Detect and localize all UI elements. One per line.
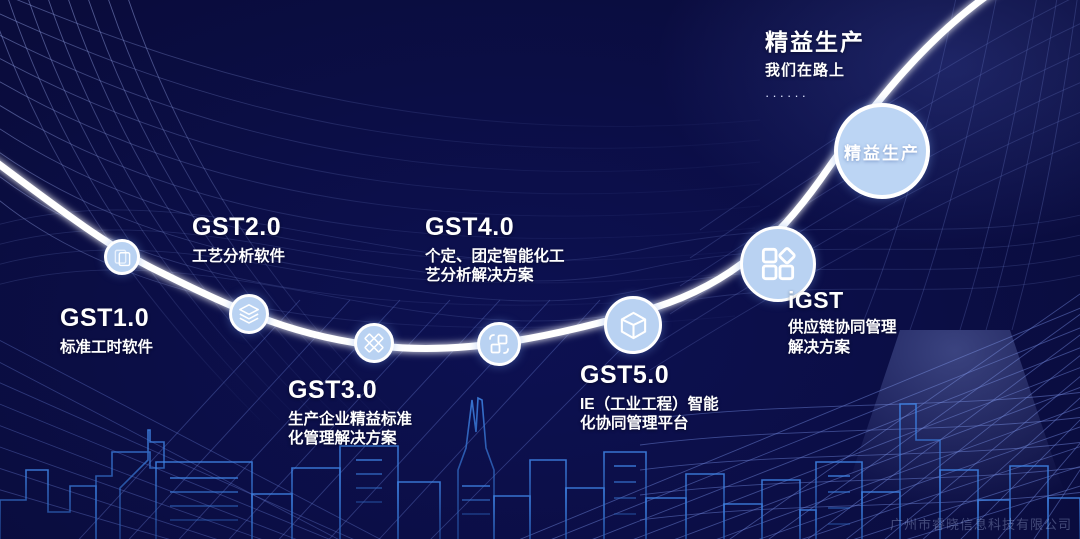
milestone-node-gst3[interactable] [354, 323, 394, 363]
milestone-title-gst1: GST1.0 [60, 305, 153, 333]
documents-icon [113, 248, 132, 267]
milestone-label-igst: iGST 供应链协同管理 解决方案 [788, 288, 897, 357]
milestone-node-hero[interactable]: 精益生产 [834, 103, 930, 199]
milestone-label-gst3: GST3.0 生产企业精益标准 化管理解决方案 [288, 377, 412, 448]
scan-icon [487, 332, 511, 356]
milestone-title-gst2: GST2.0 [192, 214, 285, 242]
milestone-label-gst1: GST1.0 标准工时软件 [60, 305, 153, 357]
milestone-subtitle-gst2: 工艺分析软件 [192, 247, 285, 266]
poster-canvas: 精益生产 GST1.0 标准工时软件 GST2.0 工艺分析软件 GST3.0 … [0, 0, 1080, 539]
hero-subtitle: 我们在路上 [765, 62, 865, 81]
milestone-subtitle-igst-line1: 供应链协同管理 [788, 318, 897, 337]
milestone-title-igst: iGST [788, 288, 897, 313]
hero-text-block: 精益生产 我们在路上 ······ [765, 30, 865, 103]
milestone-node-gst5[interactable] [604, 296, 662, 354]
diamond-grid-icon [363, 332, 385, 354]
milestone-subtitle-gst5-line1: IE（工业工程）智能 [580, 395, 719, 414]
milestone-node-gst1[interactable] [104, 239, 140, 275]
milestone-node-gst2[interactable] [229, 294, 269, 334]
milestone-subtitle-gst3-line1: 生产企业精益标准 [288, 410, 412, 429]
milestone-subtitle-gst4-line1: 个定、团定智能化工 [425, 247, 565, 266]
milestone-title-gst5: GST5.0 [580, 362, 719, 390]
hero-title: 精益生产 [765, 30, 865, 55]
milestone-node-gst4[interactable] [477, 322, 521, 366]
milestone-subtitle-gst4: 个定、团定智能化工 艺分析解决方案 [425, 247, 565, 286]
milestone-subtitle-igst: 供应链协同管理 解决方案 [788, 318, 897, 357]
milestone-subtitle-gst4-line2: 艺分析解决方案 [425, 266, 565, 285]
milestone-title-gst4: GST4.0 [425, 214, 565, 242]
milestone-subtitle-igst-line2: 解决方案 [788, 338, 897, 357]
milestone-label-gst4: GST4.0 个定、团定智能化工 艺分析解决方案 [425, 214, 565, 285]
hero-ellipsis: ······ [765, 88, 865, 103]
milestone-title-gst3: GST3.0 [288, 377, 412, 405]
milestone-subtitle-gst1: 标准工时软件 [60, 338, 153, 357]
milestone-label-gst2: GST2.0 工艺分析软件 [192, 214, 285, 266]
apps-grid-icon [758, 244, 798, 284]
milestone-subtitle-gst5-line2: 化协同管理平台 [580, 414, 719, 433]
layers-icon [238, 303, 260, 325]
milestone-subtitle-gst3-line2: 化管理解决方案 [288, 429, 412, 448]
milestone-label-gst5: GST5.0 IE（工业工程）智能 化协同管理平台 [580, 362, 719, 433]
light-ray [830, 330, 1080, 539]
cube-icon [618, 310, 649, 341]
milestone-subtitle-gst3: 生产企业精益标准 化管理解决方案 [288, 410, 412, 449]
watermark: 广州市睿晓信息科技有限公司 [890, 514, 1072, 533]
hero-node-label: 精益生产 [844, 139, 920, 164]
milestone-subtitle-gst5: IE（工业工程）智能 化协同管理平台 [580, 395, 719, 434]
